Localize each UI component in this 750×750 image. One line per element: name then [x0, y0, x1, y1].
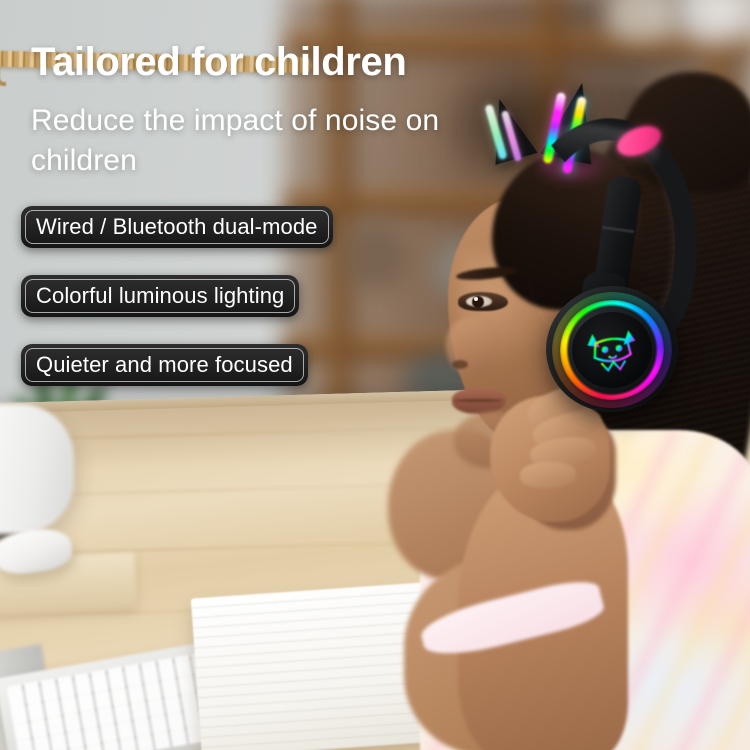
- feature-badge-focus: Quieter and more focused: [21, 344, 308, 386]
- feature-badge-dual-mode: Wired / Bluetooth dual-mode: [21, 206, 333, 248]
- promo-banner: Tailored for children Reduce the impact …: [0, 0, 750, 750]
- page-title: Tailored for children: [31, 41, 406, 84]
- feature-badge-lighting: Colorful luminous lighting: [21, 275, 299, 317]
- subtitle: Reduce the impact of noise on children: [31, 101, 461, 180]
- feature-label: Colorful luminous lighting: [36, 283, 284, 309]
- feature-label: Wired / Bluetooth dual-mode: [36, 214, 318, 240]
- feature-label: Quieter and more focused: [36, 352, 293, 378]
- feature-list: Wired / Bluetooth dual-mode Colorful lum…: [21, 206, 333, 413]
- marketing-copy: Tailored for children Reduce the impact …: [0, 0, 750, 750]
